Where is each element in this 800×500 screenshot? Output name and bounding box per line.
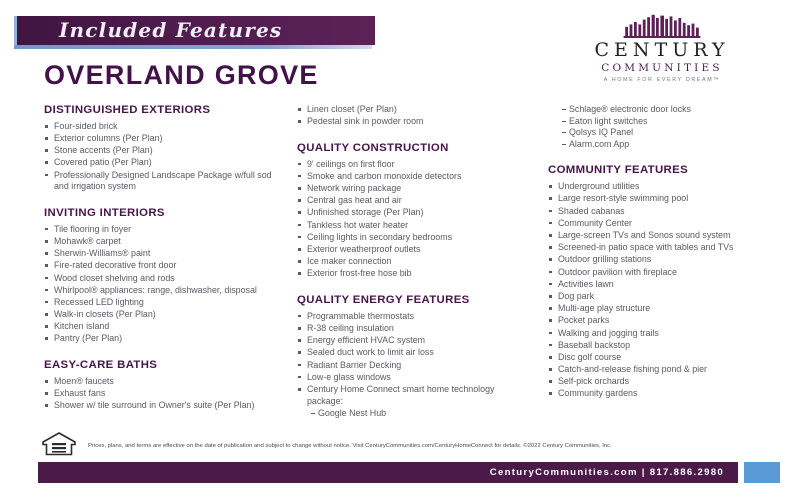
list-item-label: Ceiling lights in secondary bedrooms: [307, 232, 452, 242]
list-item-label: Community gardens: [558, 388, 637, 398]
contact-info: CenturyCommunities.com | 817.886.2980: [490, 467, 724, 478]
dash-icon: [311, 413, 315, 414]
list-item-label: Self-pick orchards: [558, 376, 629, 386]
section-title-inviting-interiors: INVITING INTERIORS: [44, 207, 284, 221]
list-smart-home-sub-items-continued: Schlage® electronic door locks Eaton lig…: [548, 104, 788, 150]
list-item: Large resort-style swimming pool: [548, 193, 788, 205]
list-item: Recessed LED lighting: [44, 297, 284, 309]
banner-underline: [14, 45, 372, 49]
list-item-label: Disc golf course: [558, 352, 621, 362]
list-item: Exterior frost-free hose bib: [297, 268, 522, 280]
list-item-label: Pedestal sink in powder room: [307, 116, 423, 126]
section-title-easy-care-baths: EASY-CARE BATHS: [44, 359, 284, 373]
list-item: Energy efficient HVAC system: [297, 335, 522, 347]
column-2: Linen closet (Per Plan) Pedestal sink in…: [297, 104, 522, 419]
list-item-label: Pocket parks: [558, 315, 609, 325]
list-item: Professionally Designed Landscape Packag…: [44, 170, 284, 193]
column-1: DISTINGUISHED EXTERIORS Four-sided brick…: [44, 104, 284, 413]
list-item-label: Energy efficient HVAC system: [307, 335, 425, 345]
list-item: Low-e glass windows: [297, 372, 522, 384]
list-item-label: Kitchen island: [54, 321, 109, 331]
bullet-icon: [298, 187, 301, 190]
bullet-icon: [45, 125, 48, 128]
bullet-icon: [549, 234, 552, 237]
list-item: Exterior columns (Per Plan): [44, 133, 284, 145]
bullet-icon: [549, 368, 552, 371]
bullet-icon: [45, 137, 48, 140]
dash-icon: [562, 121, 566, 122]
bullet-icon: [298, 211, 301, 214]
list-item-label: Network wiring package: [307, 183, 401, 193]
list-item: Self-pick orchards: [548, 376, 788, 388]
bullet-icon: [298, 376, 301, 379]
list-item: Pantry (Per Plan): [44, 333, 284, 345]
logo-subwordmark: COMMUNITIES: [572, 62, 752, 74]
bullet-icon: [549, 222, 552, 225]
list-easy-care-baths: Moen® faucets Exhaust fans Shower w/ til…: [44, 376, 284, 412]
section-title-community-features: COMMUNITY FEATURES: [548, 164, 788, 178]
list-item: Pedestal sink in powder room: [297, 116, 522, 128]
list-item-label: Walking and jogging trails: [558, 328, 659, 338]
bullet-icon: [549, 185, 552, 188]
bullet-icon: [549, 271, 552, 274]
list-item: Exhaust fans: [44, 388, 284, 400]
bullet-icon: [45, 149, 48, 152]
list-item: Four-sided brick: [44, 121, 284, 133]
list-item-label: Activities lawn: [558, 279, 614, 289]
list-distinguished-exteriors: Four-sided brick Exterior columns (Per P…: [44, 121, 284, 193]
list-item-label: Central gas heat and air: [307, 195, 402, 205]
list-item: Underground utilities: [548, 181, 788, 193]
list-item: Ice maker connection: [297, 256, 522, 268]
list-item: Stone accents (Per Plan): [44, 145, 284, 157]
bullet-icon: [45, 264, 48, 267]
list-item: Screened-in patio space with tables and …: [548, 242, 788, 254]
list-item: Fire-rated decorative front door: [44, 260, 284, 272]
list-inviting-interiors: Tile flooring in foyer Mohawk® carpet Sh…: [44, 224, 284, 345]
list-item-label: R-38 ceiling insulation: [307, 323, 394, 333]
list-quality-construction: 9' ceilings on first floor Smoke and car…: [297, 159, 522, 280]
bullet-icon: [298, 120, 301, 123]
list-smart-home-sub-items: Google Nest Hub: [297, 408, 522, 420]
legal-disclaimer: Prices, plans, and terms are effective o…: [88, 442, 733, 451]
list-item: Unfinished storage (Per Plan): [297, 207, 522, 219]
list-item-label: Programmable thermostats: [307, 311, 414, 321]
list-item-label: Linen closet (Per Plan): [307, 104, 397, 114]
bullet-icon: [45, 380, 48, 383]
list-item: Baseball backstop: [548, 340, 788, 352]
column-3: Schlage® electronic door locks Eaton lig…: [548, 104, 788, 401]
list-item: Smoke and carbon monoxide detectors: [297, 171, 522, 183]
list-item-label: Four-sided brick: [54, 121, 118, 131]
list-item: R-38 ceiling insulation: [297, 323, 522, 335]
list-item-label: Screened-in patio space with tables and …: [558, 242, 733, 252]
bullet-icon: [45, 240, 48, 243]
list-item-label: Multi-age play structure: [558, 303, 650, 313]
bullet-icon: [298, 260, 301, 263]
bullet-icon: [45, 337, 48, 340]
list-item-label: Tankless hot water heater: [307, 220, 408, 230]
list-item-label: Mohawk® carpet: [54, 236, 121, 246]
sub-list-item-label: Google Nest Hub: [318, 408, 386, 418]
list-item: Multi-age play structure: [548, 303, 788, 315]
list-item-label: Whirlpool® appliances: range, dishwasher…: [54, 285, 257, 295]
list-item-label: Community Center: [558, 218, 632, 228]
bullet-icon: [549, 344, 552, 347]
list-item: Catch-and-release fishing pond & pier: [548, 364, 788, 376]
list-item: Large-screen TVs and Sonos sound system: [548, 230, 788, 242]
equal-housing-opportunity-icon: [42, 432, 76, 456]
list-item: Outdoor grilling stations: [548, 254, 788, 266]
sub-list-item: Qolsys IQ Panel: [562, 127, 788, 139]
list-item-label: Radiant Barrier Decking: [307, 360, 401, 370]
list-item-label: Large resort-style swimming pool: [558, 193, 688, 203]
bullet-icon: [549, 197, 552, 200]
list-item: Programmable thermostats: [297, 311, 522, 323]
list-item-label: Century Home Connect smart home technolo…: [307, 384, 494, 406]
list-item: Mohawk® carpet: [44, 236, 284, 248]
list-item-label: Covered patio (Per Plan): [54, 157, 152, 167]
bullet-icon: [45, 301, 48, 304]
section-title-quality-construction: QUALITY CONSTRUCTION: [297, 142, 522, 156]
list-item-label: Shower w/ tile surround in Owner's suite…: [54, 400, 254, 410]
list-quality-energy-features: Programmable thermostats R-38 ceiling in…: [297, 311, 522, 407]
list-item: Activities lawn: [548, 279, 788, 291]
list-item-label: Unfinished storage (Per Plan): [307, 207, 423, 217]
sub-list-item: Eaton light switches: [562, 116, 788, 128]
bullet-icon: [45, 289, 48, 292]
bullet-icon: [549, 258, 552, 261]
bullet-icon: [549, 210, 552, 213]
bullet-icon: [45, 325, 48, 328]
bullet-icon: [45, 404, 48, 407]
sub-list-item-label: Alarm.com App: [569, 139, 629, 149]
list-item: Sherwin-Williams® paint: [44, 248, 284, 260]
list-item-label: Dog park: [558, 291, 594, 301]
bullet-icon: [298, 199, 301, 202]
sub-list-item: Google Nest Hub: [311, 408, 522, 420]
logo-tagline: A HOME FOR EVERY DREAM™: [572, 77, 752, 83]
banner-background: Included Features: [14, 16, 375, 45]
list-item-label: Tile flooring in foyer: [54, 224, 131, 234]
list-item: Wood closet shelving and rods: [44, 273, 284, 285]
bullet-icon: [298, 351, 301, 354]
list-item: Ceiling lights in secondary bedrooms: [297, 232, 522, 244]
bullet-icon: [298, 327, 301, 330]
bullet-icon: [549, 246, 552, 249]
list-item-label: Smoke and carbon monoxide detectors: [307, 171, 461, 181]
bullet-icon: [45, 277, 48, 280]
bullet-icon: [549, 332, 552, 335]
list-item-label: Pantry (Per Plan): [54, 333, 122, 343]
list-item-label: Wood closet shelving and rods: [54, 273, 175, 283]
sub-list-item-label: Qolsys IQ Panel: [569, 127, 633, 137]
sub-list-item-label: Eaton light switches: [569, 116, 647, 126]
list-item: Radiant Barrier Decking: [297, 360, 522, 372]
list-item-label: Exhaust fans: [54, 388, 105, 398]
section-title-quality-energy-features: QUALITY ENERGY FEATURES: [297, 294, 522, 308]
list-item-label: Catch-and-release fishing pond & pier: [558, 364, 707, 374]
bullet-icon: [45, 228, 48, 231]
bullet-icon: [45, 392, 48, 395]
list-item-label: Walk-in closets (Per Plan): [54, 309, 156, 319]
bullet-icon: [298, 224, 301, 227]
logo-wordmark: CENTURY: [572, 41, 752, 61]
bullet-icon: [298, 364, 301, 367]
list-item-label: Baseball backstop: [558, 340, 630, 350]
list-item-label: Recessed LED lighting: [54, 297, 144, 307]
bullet-icon: [298, 248, 301, 251]
dash-icon: [562, 109, 566, 110]
banner-title: Included Features: [59, 18, 282, 42]
list-item: Shower w/ tile surround in Owner's suite…: [44, 400, 284, 412]
bullet-icon: [45, 252, 48, 255]
bullet-icon: [298, 163, 301, 166]
contact-bar-accent: [744, 462, 780, 483]
list-item-label: Exterior columns (Per Plan): [54, 133, 163, 143]
list-item-label: 9' ceilings on first floor: [307, 159, 395, 169]
skyline-icon: [614, 14, 710, 38]
list-item-label: Ice maker connection: [307, 256, 391, 266]
list-item: Walk-in closets (Per Plan): [44, 309, 284, 321]
list-item: Central gas heat and air: [297, 195, 522, 207]
list-item: Century Home Connect smart home technolo…: [297, 384, 522, 407]
contact-bar: CenturyCommunities.com | 817.886.2980: [38, 462, 738, 483]
list-item-label: Moen® faucets: [54, 376, 114, 386]
sub-list-item: Alarm.com App: [562, 139, 788, 151]
list-item: Community gardens: [548, 388, 788, 400]
list-item: Sealed duct work to limit air loss: [297, 347, 522, 359]
list-item-label: Sealed duct work to limit air loss: [307, 347, 434, 357]
list-item-label: Outdoor grilling stations: [558, 254, 651, 264]
list-item: Exterior weatherproof outlets: [297, 244, 522, 256]
bullet-icon: [45, 313, 48, 316]
list-item: Network wiring package: [297, 183, 522, 195]
dash-icon: [562, 144, 566, 145]
bullet-icon: [45, 161, 48, 164]
list-item: 9' ceilings on first floor: [297, 159, 522, 171]
list-item: Pocket parks: [548, 315, 788, 327]
bullet-icon: [298, 339, 301, 342]
bullet-icon: [298, 108, 301, 111]
features-columns: DISTINGUISHED EXTERIORS Four-sided brick…: [0, 104, 800, 429]
bullet-icon: [549, 283, 552, 286]
list-item-label: Fire-rated decorative front door: [54, 260, 176, 270]
brochure-page: Included Features OVERLAND GROVE: [0, 0, 800, 500]
dash-icon: [562, 132, 566, 133]
list-item: Linen closet (Per Plan): [297, 104, 522, 116]
list-item: Moen® faucets: [44, 376, 284, 388]
list-item: Dog park: [548, 291, 788, 303]
sub-list-item-label: Schlage® electronic door locks: [569, 104, 691, 114]
list-community-features: Underground utilities Large resort-style…: [548, 181, 788, 400]
list-item: Whirlpool® appliances: range, dishwasher…: [44, 285, 284, 297]
list-item: Shaded cabanas: [548, 206, 788, 218]
bullet-icon: [298, 272, 301, 275]
list-item: Walking and jogging trails: [548, 328, 788, 340]
bullet-icon: [549, 307, 552, 310]
page-title: OVERLAND GROVE: [44, 60, 319, 91]
page-header: Included Features OVERLAND GROVE: [0, 0, 800, 100]
list-item-label: Professionally Designed Landscape Packag…: [54, 170, 272, 192]
included-features-banner: Included Features: [14, 16, 372, 48]
list-item: Tankless hot water heater: [297, 220, 522, 232]
list-item: Tile flooring in foyer: [44, 224, 284, 236]
list-item-label: Large-screen TVs and Sonos sound system: [558, 230, 731, 240]
bullet-icon: [298, 388, 301, 391]
bullet-icon: [298, 315, 301, 318]
bullet-icon: [549, 380, 552, 383]
list-item: Outdoor pavilion with fireplace: [548, 267, 788, 279]
list-item-label: Sherwin-Williams® paint: [54, 248, 150, 258]
list-item: Kitchen island: [44, 321, 284, 333]
bullet-icon: [549, 392, 552, 395]
list-item-label: Low-e glass windows: [307, 372, 391, 382]
list-item-label: Shaded cabanas: [558, 206, 625, 216]
list-item-label: Exterior weatherproof outlets: [307, 244, 420, 254]
section-title-distinguished-exteriors: DISTINGUISHED EXTERIORS: [44, 104, 284, 118]
bullet-icon: [549, 319, 552, 322]
list-item: Covered patio (Per Plan): [44, 157, 284, 169]
list-item-label: Exterior frost-free hose bib: [307, 268, 412, 278]
list-item-label: Outdoor pavilion with fireplace: [558, 267, 677, 277]
list-item-label: Underground utilities: [558, 181, 639, 191]
sub-list-item: Schlage® electronic door locks: [562, 104, 788, 116]
bullet-icon: [298, 236, 301, 239]
bullet-icon: [549, 356, 552, 359]
list-inviting-interiors-continued: Linen closet (Per Plan) Pedestal sink in…: [297, 104, 522, 128]
bullet-icon: [298, 175, 301, 178]
century-communities-logo: CENTURY COMMUNITIES A HOME FOR EVERY DRE…: [572, 14, 752, 83]
bullet-icon: [45, 174, 48, 177]
list-item-label: Stone accents (Per Plan): [54, 145, 153, 155]
list-item: Community Center: [548, 218, 788, 230]
bullet-icon: [549, 295, 552, 298]
list-item: Disc golf course: [548, 352, 788, 364]
